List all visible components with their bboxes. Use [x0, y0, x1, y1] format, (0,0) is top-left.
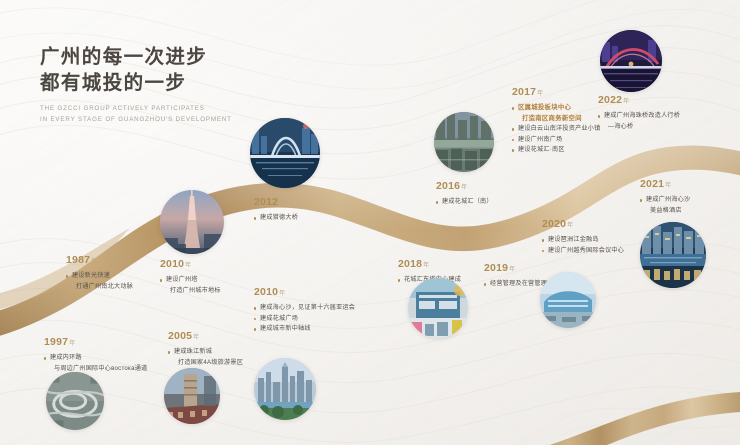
milestone-item: 建设新光快速 — [66, 271, 133, 282]
milestone-year: 1987年 — [66, 254, 133, 268]
milestone-item: 建设广州越秀国际会议中心 — [542, 246, 624, 257]
photo-node-liede-bridge[interactable] — [250, 118, 320, 188]
milestone-item: 打造广州城市地标 — [160, 286, 221, 297]
photo-node-highway-interchange[interactable] — [46, 372, 104, 430]
milestone-item: 建成内环路 — [44, 353, 147, 364]
photo-node-haixin-bridge[interactable] — [600, 30, 662, 92]
milestone-item: 与周边广州国际中心востока通道 — [44, 364, 147, 375]
milestone-item: 建成珠江新城 — [168, 347, 243, 358]
milestone-year: 2012年 — [254, 196, 298, 210]
photo-node-huachenghui[interactable] — [408, 278, 468, 338]
milestone-year: 2017年 — [512, 86, 600, 100]
convention-center-photo — [540, 272, 596, 328]
poster-headline: 广州的每一次进步 都有城投的一步 THE GZCCI GROUP ACTIVEL… — [40, 44, 232, 125]
milestone-item: 建成广州海心沙 — [640, 195, 690, 206]
photo-node-canton-tower[interactable] — [160, 190, 224, 254]
milestone-item: 建成花城汇（南） — [436, 197, 493, 208]
milestone-item: 建成城市新中轴线 — [254, 324, 355, 335]
photo-node-old-town[interactable] — [164, 368, 220, 424]
milestone-year: 2019年 — [484, 262, 560, 276]
milestone-2005: 2005年 建成珠江新城 打造国家4A级旅游景区 — [168, 330, 243, 368]
photo-node-skyline[interactable] — [254, 358, 316, 420]
milestone-item: 建设广州南广场 — [512, 135, 600, 146]
milestone-year: 1997年 — [44, 336, 147, 350]
milestone-year: 2018年 — [398, 258, 461, 272]
photo-node-hotel[interactable] — [640, 222, 706, 288]
huacheng-hui-mall-photo — [408, 278, 468, 338]
milestone-year: 2010年 — [254, 286, 355, 300]
riverside-hotel-photo — [640, 222, 706, 288]
headline-line-1: 广州的每一次进步 — [40, 44, 232, 70]
milestone-2010-canton-tower: 2010年 建设广州塔 打造广州城市地标 — [160, 258, 221, 296]
milestone-item: 建成猎德大桥 — [254, 213, 298, 224]
photo-node-convention-center[interactable] — [540, 272, 596, 328]
milestone-item: 建成海心沙，见证第十六届亚运会 — [254, 303, 355, 314]
milestone-2016: 2016年 建成花城汇（南） — [436, 180, 493, 208]
milestone-year: 2021年 — [640, 178, 690, 192]
milestone-2021: 2021年 建成广州海心沙 美益格酒店 — [640, 178, 690, 216]
infographic-poster: 广州的每一次进步 都有城投的一步 THE GZCCI GROUP ACTIVEL… — [0, 0, 740, 445]
canton-tower-photo — [160, 190, 224, 254]
milestone-item-highlight: 打造南区商务新空间 — [512, 114, 600, 125]
milestone-item: —海心桥 — [598, 122, 680, 133]
milestone-2010-haixinsha: 2010年 建成海心沙，见证第十六届亚运会 建成花城广场 建成城市新中轴线 — [254, 286, 355, 335]
zhujiang-new-town-skyline-photo — [254, 358, 316, 420]
milestone-item: 建成广州海珠桥改造人行桥 — [598, 111, 680, 122]
milestone-item: 建设花城汇·南区 — [512, 145, 600, 156]
historic-district-photo — [164, 368, 220, 424]
highway-interchange-aerial-photo — [46, 372, 104, 430]
milestone-year: 2005年 — [168, 330, 243, 344]
headline-line-2: 都有城投的一步 — [40, 70, 232, 96]
milestone-year: 2022年 — [598, 94, 680, 108]
milestone-1987: 1987年 建设新光快速 打通广州南北大动脉 — [66, 254, 133, 292]
milestone-item: 美益格酒店 — [640, 206, 690, 217]
poster-subtitle: THE GZCCI GROUP ACTIVELY PARTICIPATES IN… — [40, 104, 232, 125]
milestone-year: 2010年 — [160, 258, 221, 272]
milestone-item: 打通广州南北大动脉 — [66, 282, 133, 293]
city-block-aerial-photo — [434, 112, 494, 172]
milestone-item-highlight: 区属城投板块中心 — [512, 103, 600, 114]
milestone-year: 2016年 — [436, 180, 493, 194]
milestone-item: 建成花城广场 — [254, 314, 355, 325]
milestone-2020: 2020年 建设琶洲江金融岛 建设广州越秀国际会议中心 — [542, 218, 624, 256]
milestone-item: 建设琶洲江金融岛 — [542, 235, 624, 246]
photo-node-city-block[interactable] — [434, 112, 494, 172]
subtitle-line-2: IN EVERY STAGE OF GUANGZHOU'S DEVELOPMEN… — [40, 115, 232, 126]
milestone-item: 打造国家4A级旅游景区 — [168, 358, 243, 369]
milestone-item: 建设广州塔 — [160, 275, 221, 286]
liede-bridge-night-photo — [250, 118, 320, 188]
milestone-year: 2020年 — [542, 218, 624, 232]
milestone-2017: 2017年 区属城投板块中心 打造南区商务新空间 建设白云山南洋投资产业小镇 建… — [512, 86, 600, 156]
milestone-2012: 2012年 建成猎德大桥 — [254, 196, 298, 224]
milestone-2022: 2022年 建成广州海珠桥改造人行桥 —海心桥 — [598, 94, 680, 132]
haixin-pedestrian-bridge-night-photo — [600, 30, 662, 92]
milestone-1997: 1997年 建成内环路 与周边广州国际中心востока通道 — [44, 336, 147, 374]
subtitle-line-1: THE GZCCI GROUP ACTIVELY PARTICIPATES — [40, 104, 232, 115]
milestone-item: 建设白云山南洋投资产业小镇 — [512, 124, 600, 135]
